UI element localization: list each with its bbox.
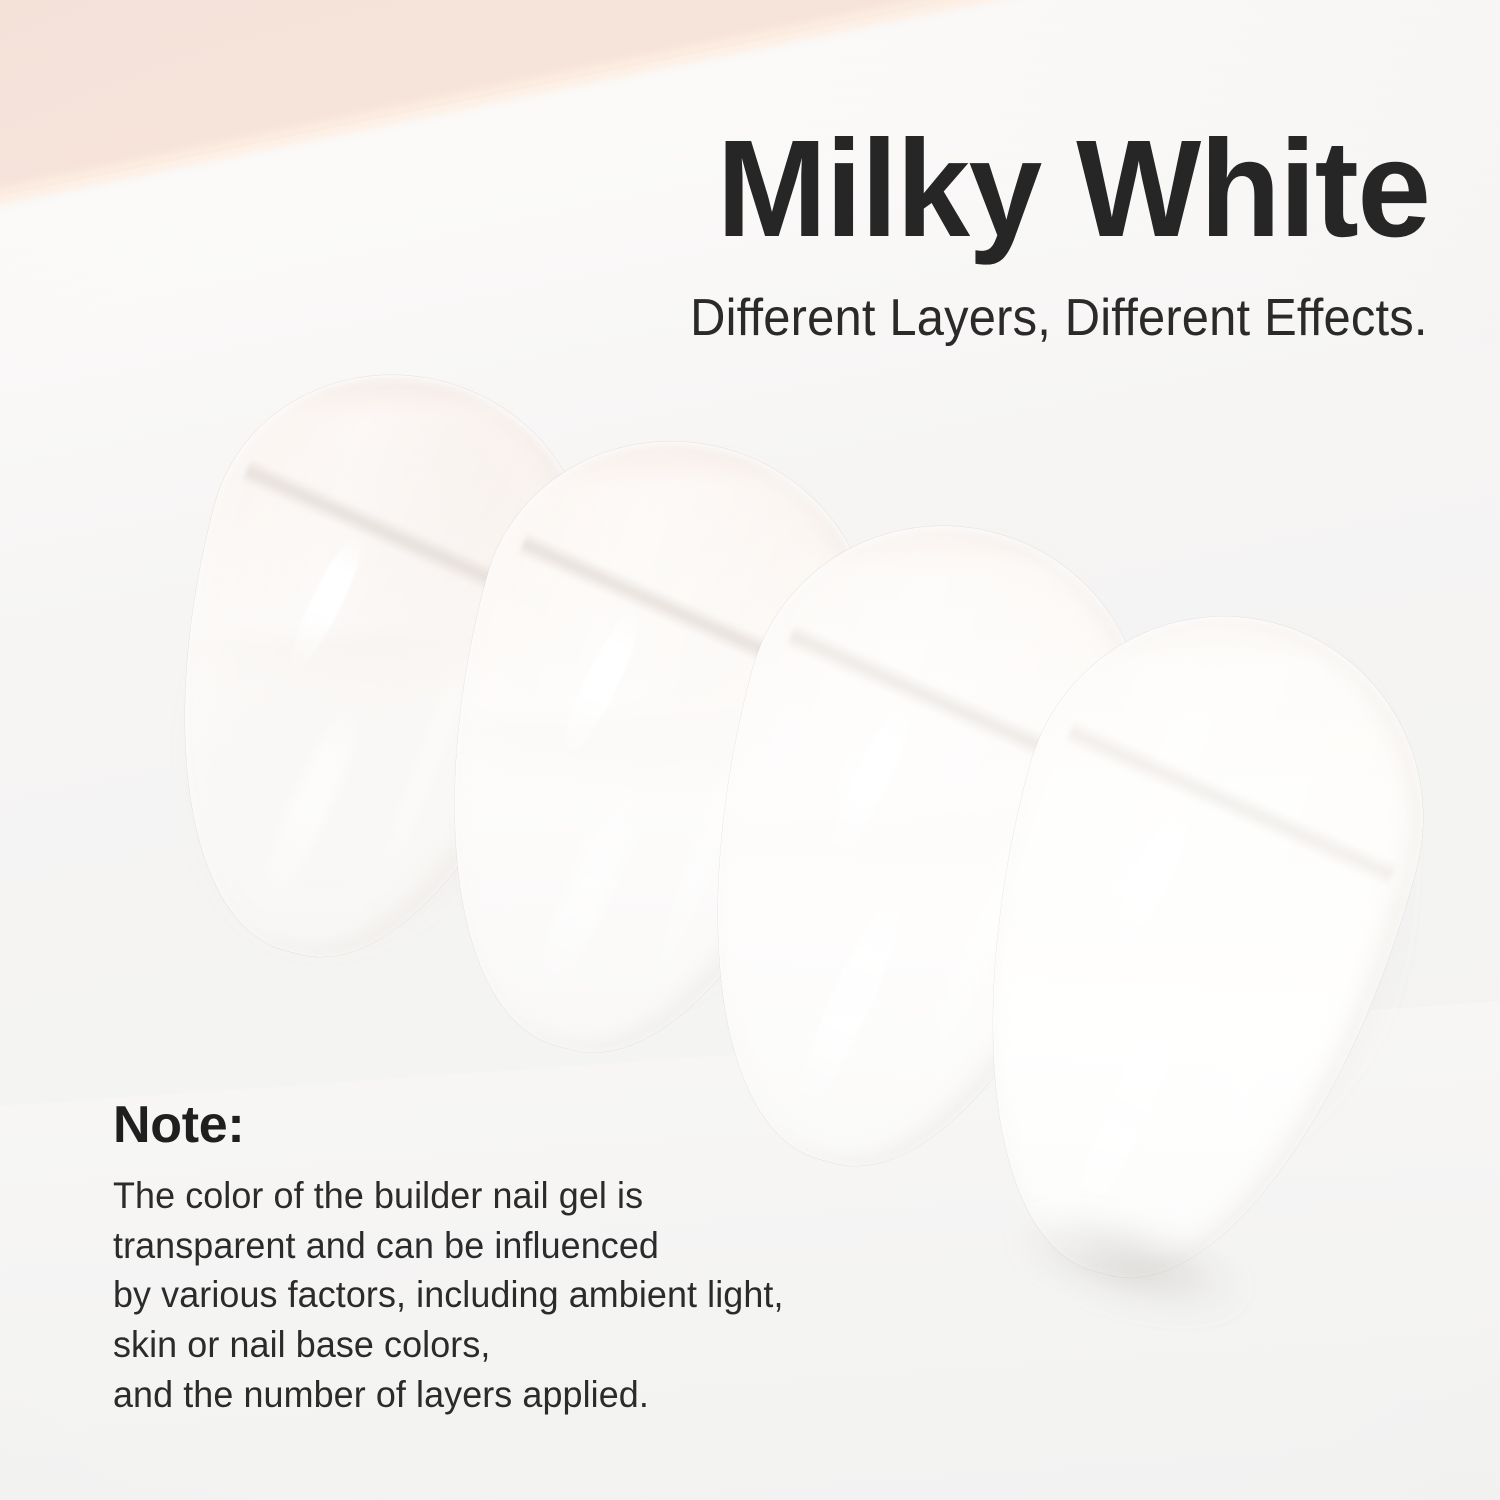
page-subtitle: Different Layers, Different Effects. xyxy=(690,292,1428,344)
note-line: by various factors, including ambient li… xyxy=(113,1270,986,1320)
note-line: The color of the builder nail gel is xyxy=(113,1171,986,1221)
note-body: The color of the builder nail gel is tra… xyxy=(113,1171,986,1421)
note-line: skin or nail base colors, xyxy=(113,1320,986,1370)
page-title: Milky White xyxy=(717,120,1430,258)
note-heading: Note: xyxy=(113,1098,1013,1153)
note-line: and the number of layers applied. xyxy=(113,1370,986,1420)
note-block: Note: The color of the builder nail gel … xyxy=(113,1098,1013,1420)
note-line: transparent and can be influenced xyxy=(113,1221,986,1271)
product-infographic-poster: Milky White Different Layers, Different … xyxy=(0,0,1500,1500)
